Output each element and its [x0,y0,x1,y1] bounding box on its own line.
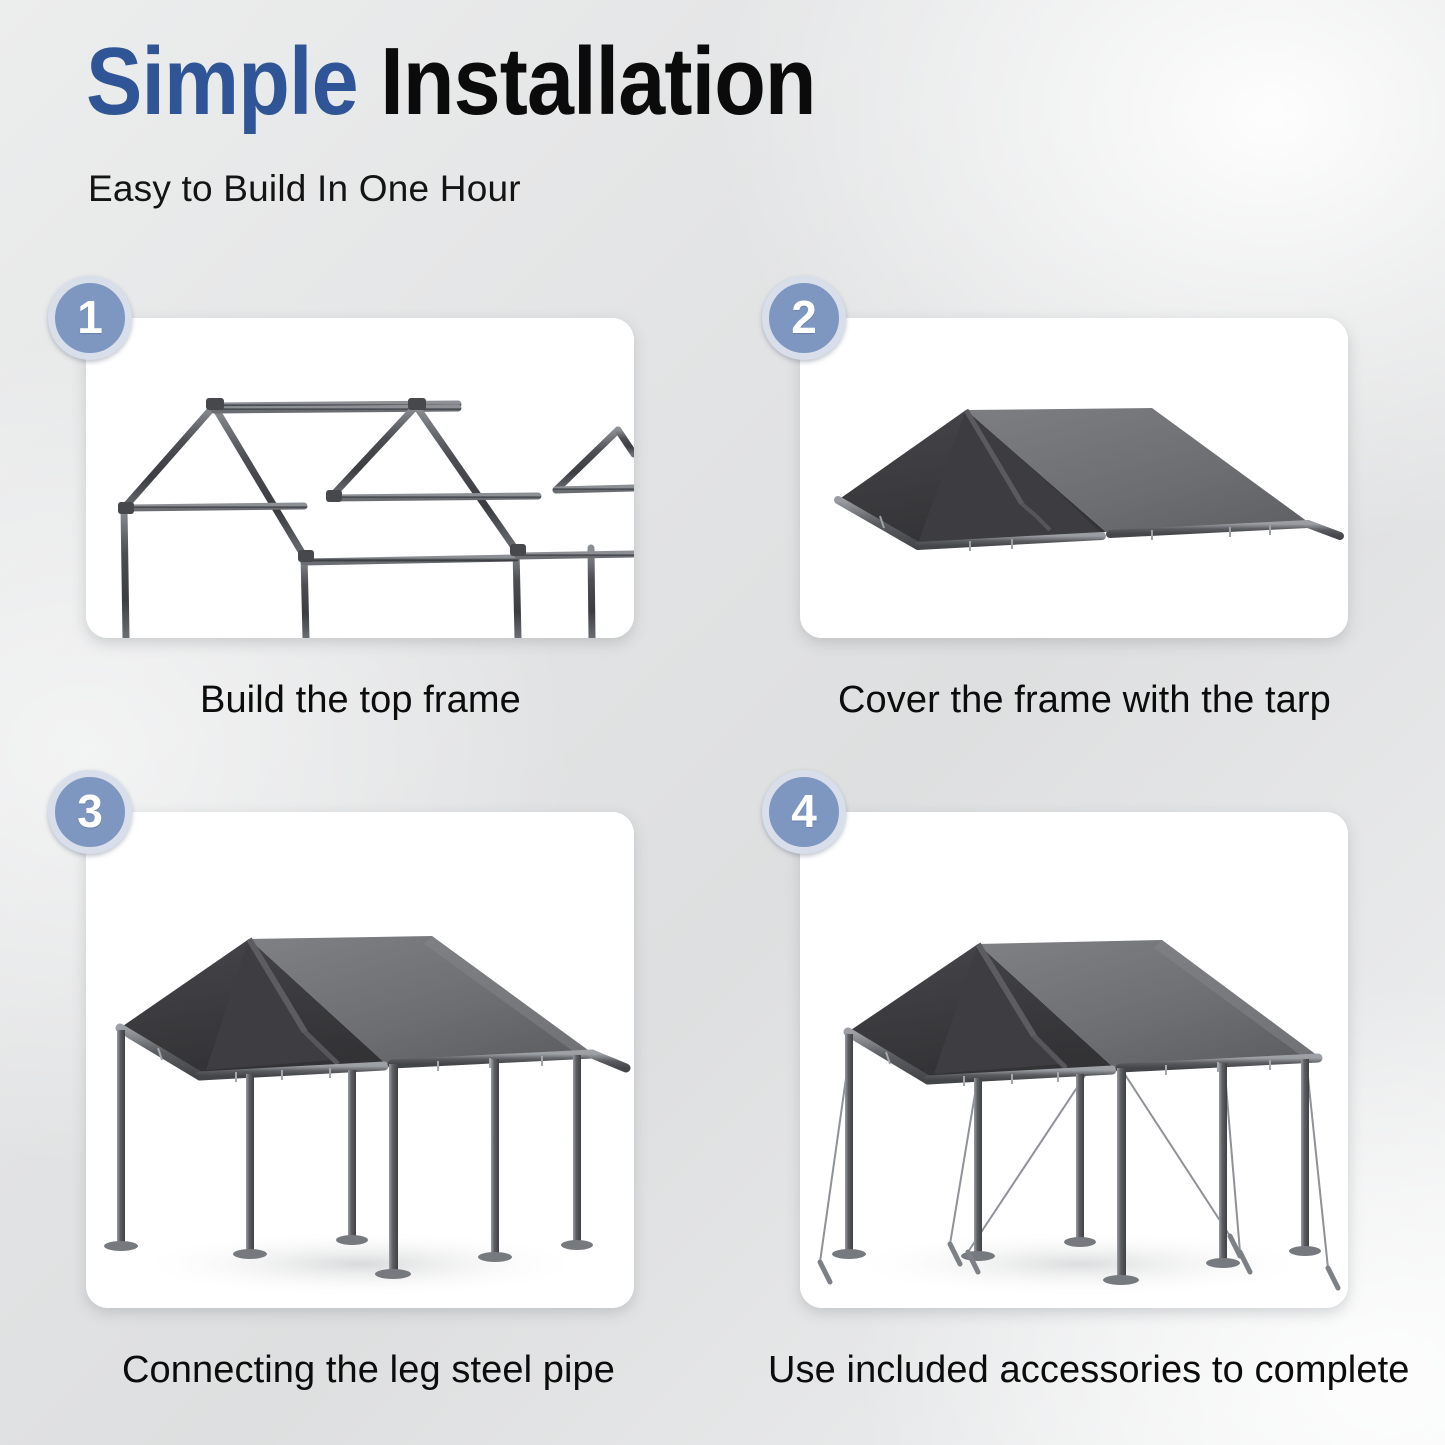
step-1-image-card [86,318,634,638]
step-3-image-card [86,812,634,1308]
step-4-image-card [800,812,1348,1308]
step-3-number: 3 [77,788,103,834]
step-2-image-card [800,318,1348,638]
step-2-number: 2 [791,294,817,340]
title-accent-word: Simple [86,28,358,135]
roof-with-tarp-illustration [800,318,1348,638]
step-2-caption: Cover the frame with the tarp [838,679,1331,722]
step-4-number: 4 [791,788,817,834]
page-subtitle: Easy to Build In One Hour [88,168,521,210]
infographic-page: Simple Installation Easy to Build In One… [0,0,1445,1445]
carport-with-legs-illustration [86,812,634,1308]
step-4-caption: Use included accessories to complete [768,1349,1409,1392]
carport-with-guy-ropes-illustration [800,812,1348,1308]
top-frame-closeup-illustration [86,318,634,638]
step-1-number: 1 [77,294,103,340]
step-1-caption: Build the top frame [200,679,521,722]
page-title: Simple Installation [86,34,816,130]
step-1-badge: 1 [48,276,132,360]
step-4-badge: 4 [762,770,846,854]
title-main-word: Installation [380,28,815,135]
step-3-caption: Connecting the leg steel pipe [122,1349,615,1392]
step-3-badge: 3 [48,770,132,854]
step-2-badge: 2 [762,276,846,360]
